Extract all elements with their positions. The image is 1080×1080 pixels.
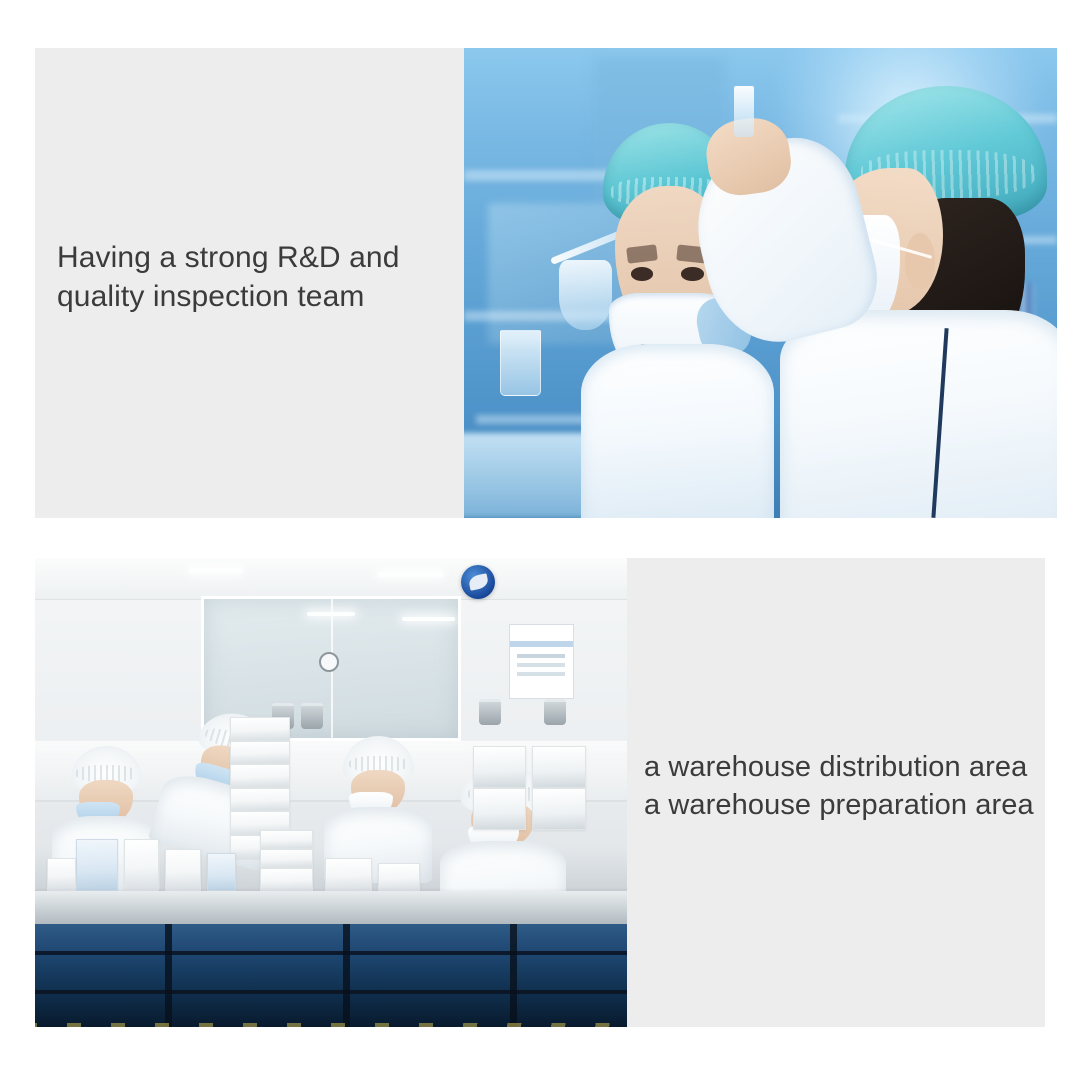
section-warehouse: a warehouse distribution area a warehous…	[35, 558, 1045, 1027]
photo-laboratory	[464, 48, 1057, 518]
box-stack	[532, 746, 585, 788]
box-on-table	[378, 863, 419, 891]
box-stack	[532, 788, 585, 830]
box-on-table	[260, 849, 313, 868]
box-stack	[473, 746, 526, 788]
box-stack	[230, 741, 289, 764]
ceiling-light	[189, 568, 242, 573]
section-rd-quality: Having a strong R&D and quality inspecti…	[35, 48, 1057, 518]
cart-leg	[343, 924, 350, 1027]
caption-pane-right: a warehouse distribution area a warehous…	[627, 558, 1045, 1027]
ceiling-light	[307, 612, 354, 616]
wall-notice-poster	[509, 624, 574, 699]
steel-container	[544, 699, 566, 725]
box-on-table	[124, 839, 160, 891]
cart-shelf	[35, 951, 627, 955]
lab-coat	[581, 344, 775, 518]
floor-safety-stripes	[35, 1023, 627, 1027]
lab-coat	[780, 310, 1057, 518]
warehouse-worker	[343, 736, 414, 858]
ear	[905, 233, 935, 289]
steel-container	[301, 703, 323, 729]
page-root: Having a strong R&D and quality inspecti…	[0, 0, 1080, 1080]
wall-clock-icon	[319, 652, 339, 672]
steel-container	[479, 699, 501, 725]
box-stack	[473, 788, 526, 830]
box-on-table	[207, 853, 237, 891]
box-on-table	[260, 868, 313, 891]
caption-pane-left: Having a strong R&D and quality inspecti…	[35, 48, 464, 518]
ceiling-light	[402, 617, 455, 621]
cart-leg	[165, 924, 172, 1027]
box-stack	[230, 764, 289, 787]
sample-vial	[734, 86, 754, 138]
ceiling-light	[378, 572, 443, 577]
eye	[631, 267, 653, 280]
box-on-table	[165, 849, 201, 891]
cart-leg	[510, 924, 517, 1027]
box-on-table	[47, 858, 77, 891]
box-on-table	[260, 830, 313, 849]
eye	[681, 267, 703, 280]
box-on-table	[76, 839, 117, 891]
caption-warehouse: a warehouse distribution area a warehous…	[644, 748, 1034, 825]
box-stack	[230, 717, 289, 740]
photo-warehouse	[35, 558, 627, 1027]
eyebrow	[626, 244, 658, 263]
caption-rd-quality: Having a strong R&D and quality inspecti…	[57, 238, 399, 316]
box-stack	[230, 788, 289, 811]
lab-beaker	[500, 330, 542, 396]
cart-shelf	[35, 990, 627, 994]
box-on-table	[325, 858, 372, 891]
warehouse-ceiling	[35, 558, 627, 600]
blue-cart-base	[35, 924, 627, 1027]
